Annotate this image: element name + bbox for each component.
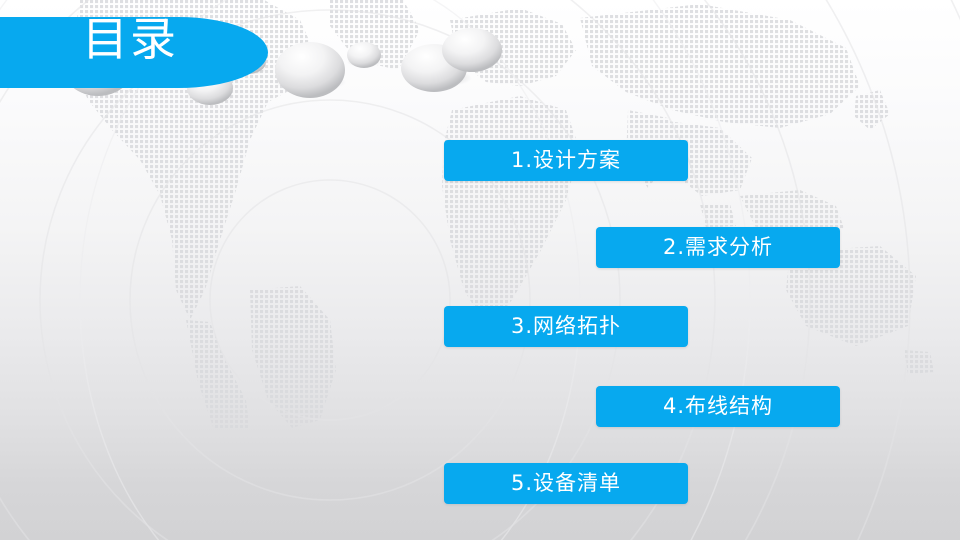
toc-item-5[interactable]: 5.设备清单 (444, 463, 688, 504)
toc-item-4-label: 4.布线结构 (663, 396, 773, 417)
toc-item-2[interactable]: 2.需求分析 (596, 227, 840, 268)
toc-item-1[interactable]: 1.设计方案 (444, 140, 688, 181)
toc-item-1-label: 1.设计方案 (511, 150, 621, 171)
toc-item-3[interactable]: 3.网络拓扑 (444, 306, 688, 347)
page-title: 目录 (82, 16, 178, 62)
toc-item-3-label: 3.网络拓扑 (511, 316, 621, 337)
toc-item-4[interactable]: 4.布线结构 (596, 386, 840, 427)
toc-item-2-label: 2.需求分析 (663, 237, 773, 258)
toc-item-5-label: 5.设备清单 (511, 473, 621, 494)
slide-canvas: 目录 1.设计方案 2.需求分析 3.网络拓扑 4.布线结构 5.设备清单 (0, 0, 960, 540)
